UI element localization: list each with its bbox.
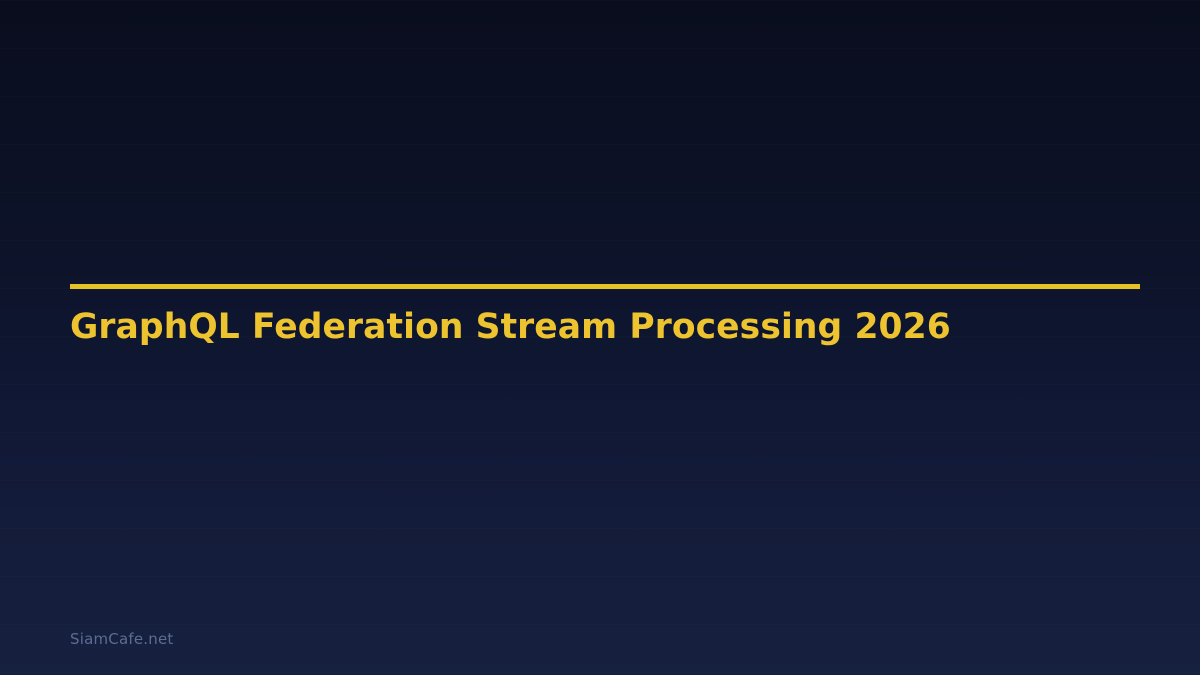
title-slide: GraphQL Federation Stream Processing 202… (0, 0, 1200, 675)
slide-footer: SiamCafe.net (70, 629, 173, 648)
slide-title: GraphQL Federation Stream Processing 202… (70, 289, 1140, 347)
title-block: GraphQL Federation Stream Processing 202… (70, 284, 1140, 347)
footer-attribution-text: SiamCafe.net (70, 630, 173, 648)
